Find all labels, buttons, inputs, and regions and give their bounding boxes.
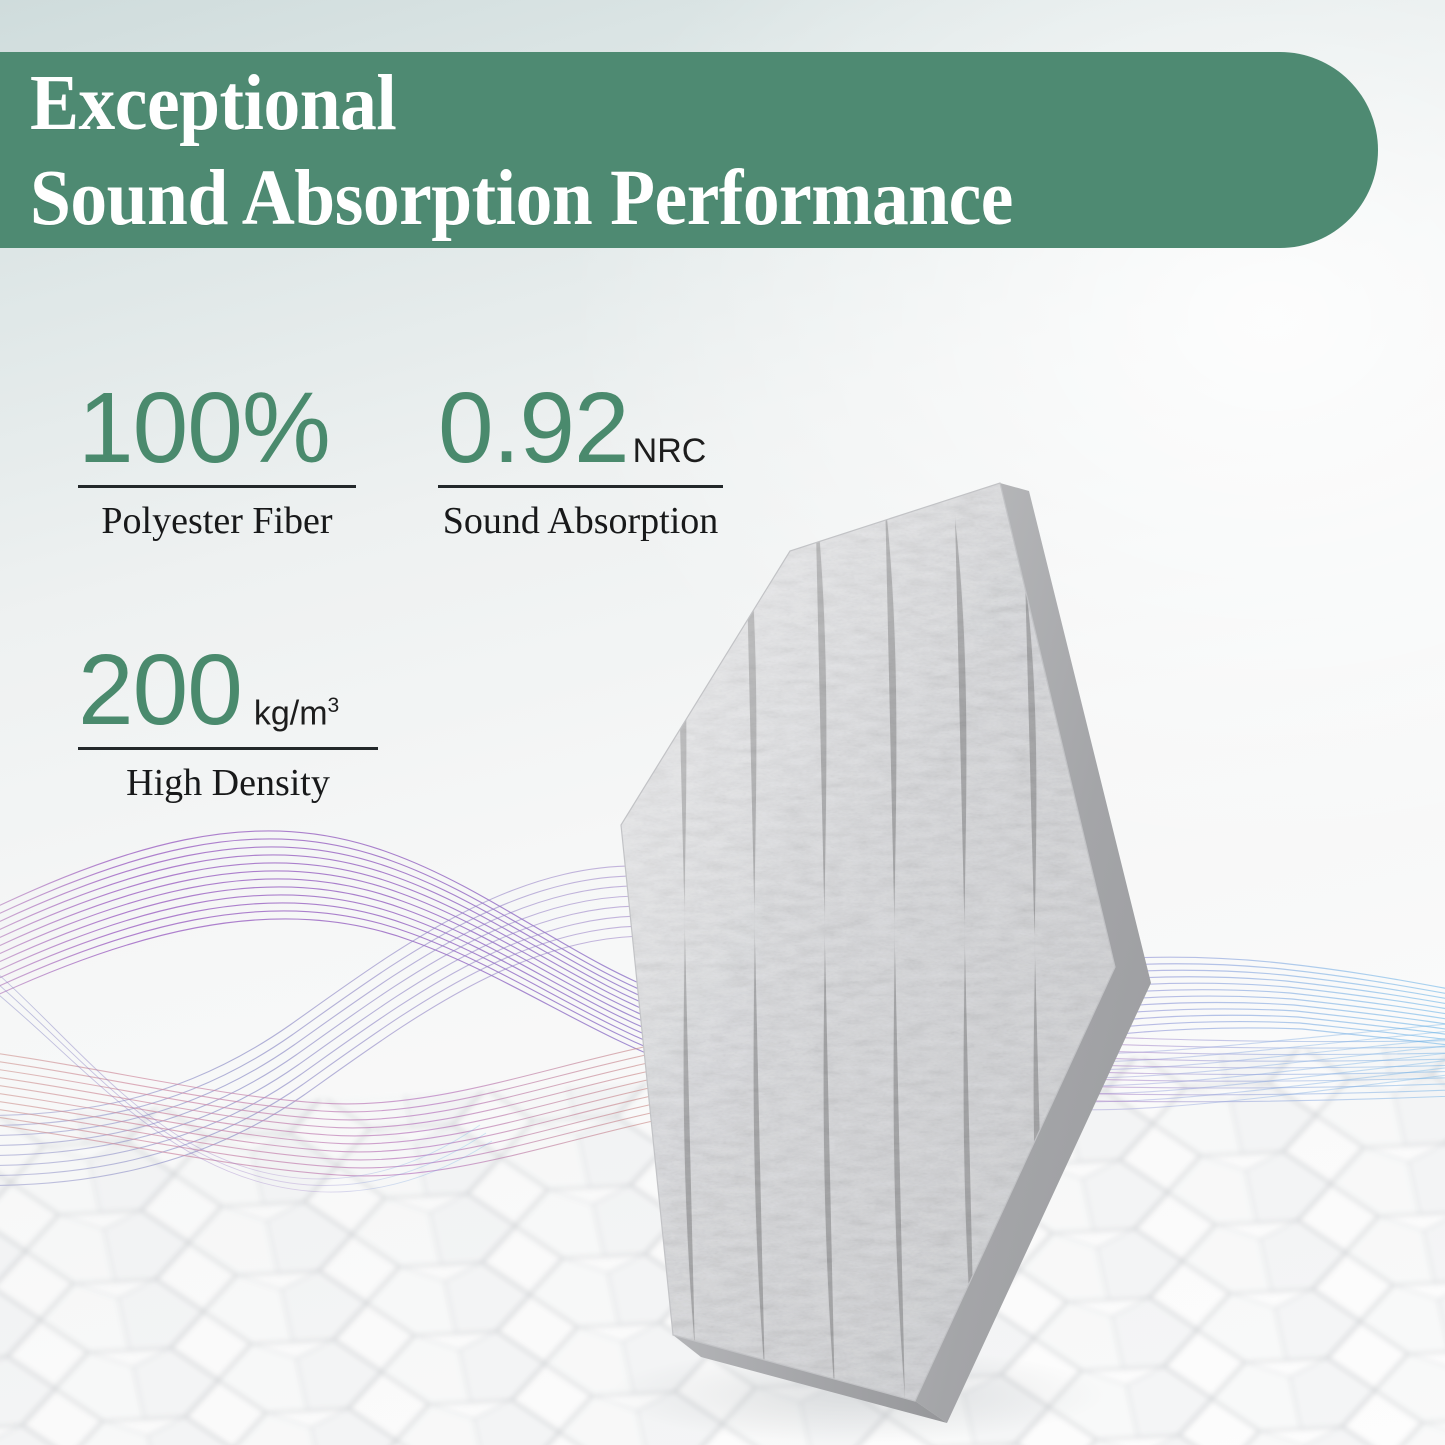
- stat-unit-exponent: 3: [328, 694, 340, 717]
- stat-unit: NRC: [633, 434, 707, 468]
- stat-polyester-fiber: 100% Polyester Fiber: [78, 378, 356, 545]
- stat-value: 0.92: [438, 378, 629, 478]
- stat-label: Polyester Fiber: [78, 499, 356, 545]
- stat-unit: kg/m3: [254, 695, 339, 730]
- header-banner: Exceptional Sound Absorption Performance: [0, 52, 1378, 248]
- stat-value-row: 100%: [78, 378, 356, 478]
- stat-sound-absorption: 0.92 NRC Sound Absorption: [438, 378, 723, 545]
- stat-divider: [438, 485, 723, 488]
- stat-value-row: 0.92 NRC: [438, 378, 723, 478]
- stat-value: 100%: [78, 378, 330, 478]
- product-infographic: Exceptional Sound Absorption Performance…: [0, 0, 1445, 1445]
- stat-divider: [78, 485, 356, 488]
- stat-value: 200: [78, 640, 242, 740]
- stat-divider: [78, 747, 378, 750]
- page-title: Exceptional Sound Absorption Performance: [30, 56, 1267, 246]
- stat-label: High Density: [78, 761, 378, 807]
- stat-value-row: 200 kg/m3: [78, 640, 378, 740]
- hexagon-acoustic-panel: [555, 455, 1175, 1435]
- stat-label: Sound Absorption: [438, 499, 723, 545]
- stat-high-density: 200 kg/m3 High Density: [78, 640, 378, 807]
- stat-unit-text: kg/m: [254, 694, 328, 732]
